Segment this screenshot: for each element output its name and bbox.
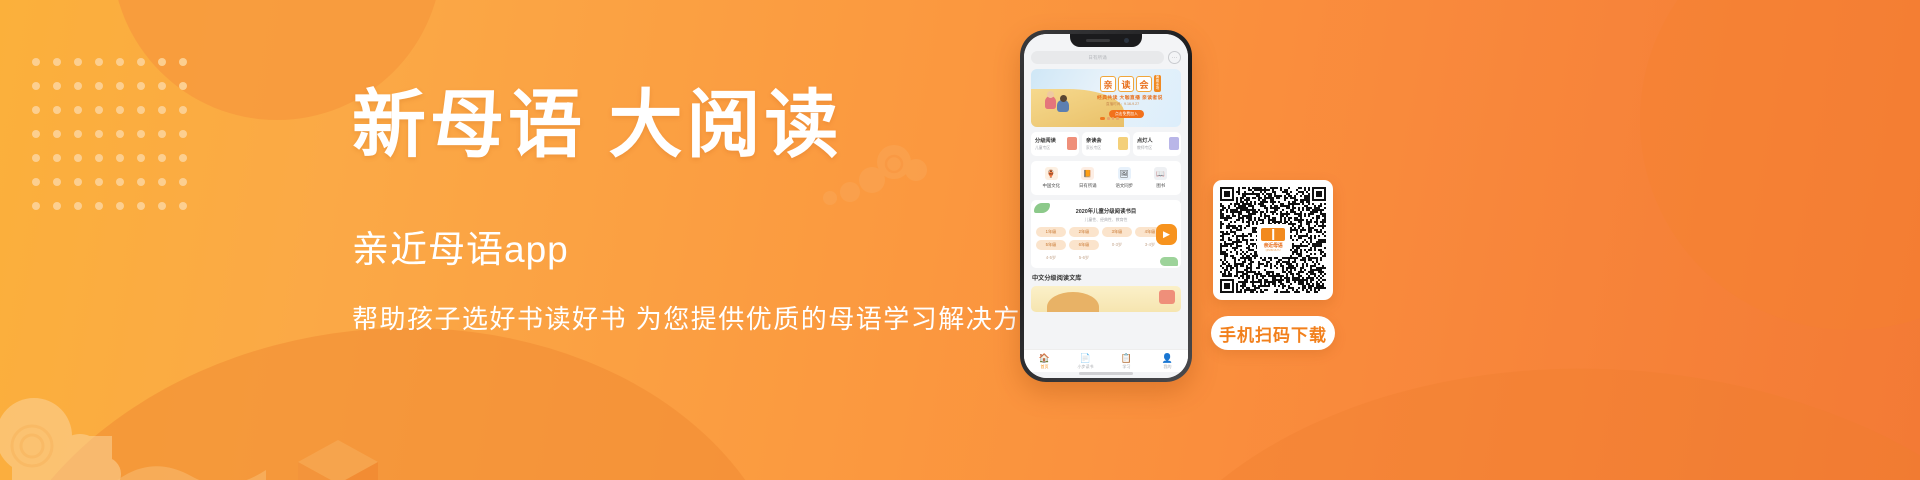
decor-wave-right	[1109, 336, 1920, 480]
quick-icon-语文同步[interactable]: 🖼语文同步	[1106, 167, 1143, 189]
zone-icon	[1067, 137, 1077, 150]
quick-icon-label: 语文同步	[1106, 183, 1143, 189]
checklist-icon: 📋	[1106, 354, 1147, 363]
hero-title-char: 会	[1136, 76, 1152, 92]
zone-cards: 分级阅读儿童专区亲读会家长专区点灯人教师专区	[1031, 132, 1181, 156]
search-input[interactable]: 日有所诵	[1031, 51, 1164, 64]
grade-button[interactable]: 1年级	[1036, 227, 1066, 237]
grade-button[interactable]: 6年级	[1069, 240, 1099, 250]
tab-我的[interactable]: 👤我的	[1147, 354, 1188, 370]
hero-title-char: 读	[1118, 76, 1134, 92]
app-search-bar[interactable]: 日有所诵 ···	[1031, 51, 1181, 64]
book-open-icon: 📙	[1081, 167, 1094, 180]
play-button[interactable]: ▶	[1156, 224, 1177, 245]
books-icon: 📖	[1154, 167, 1167, 180]
tab-学习[interactable]: 📋学习	[1106, 354, 1147, 370]
hero-dates: 直播时间：9.16-9.27	[1106, 102, 1139, 107]
bottom-tab-bar: 🏠首页📄小步读书📋学习👤我的	[1024, 349, 1188, 372]
vase-icon: 🏺	[1045, 167, 1058, 180]
booklist-card: 2020年儿童分级阅读书目 儿童性、经典性、教育性 1年级2年级3年级4年级5年…	[1031, 200, 1181, 268]
logo-name: 亲近母语	[1264, 242, 1283, 249]
phone-mockup: 日有所诵 ··· 亲读会暑期专场 经典共读 大咖直播 亲读者说 直播时间：9.1…	[1020, 30, 1192, 382]
tab-label: 我的	[1147, 364, 1188, 370]
quick-icon-label: 中国文化	[1033, 183, 1070, 189]
grade-button[interactable]: 5年级	[1036, 240, 1066, 250]
hero-banner[interactable]: 亲读会暑期专场 经典共读 大咖直播 亲读者说 直播时间：9.16-9.27 点击…	[1031, 69, 1181, 127]
grade-buttons: 1年级2年级3年级4年级5年级6年级0-3岁3-4岁4-5岁5-6岁	[1036, 227, 1176, 263]
logo-pinyin: QINJIN MUYU	[1266, 249, 1281, 252]
grade-button[interactable]: 2年级	[1069, 227, 1099, 237]
qr-block: 亲近母语 QINJIN MUYU 手机扫码下载	[1208, 180, 1338, 350]
hero-title-char: 亲	[1100, 76, 1116, 92]
phone-notch	[1070, 34, 1142, 47]
decor-circle-right	[1640, 0, 1920, 330]
home-icon: 🏠	[1024, 354, 1065, 363]
grade-button[interactable]: 3年级	[1102, 227, 1132, 237]
age-button[interactable]: 4-5岁	[1036, 253, 1066, 263]
decor-cloud-mid	[96, 420, 266, 480]
age-button[interactable]: 5-6岁	[1069, 253, 1099, 263]
download-button[interactable]: 手机扫码下载	[1211, 316, 1335, 350]
app-screen: 日有所诵 ··· 亲读会暑期专场 经典共读 大咖直播 亲读者说 直播时间：9.1…	[1024, 34, 1188, 378]
tab-label: 学习	[1106, 364, 1147, 370]
quick-icon-label: 图书	[1143, 183, 1180, 189]
decor-dot-grid	[32, 58, 200, 226]
booklist-subtitle: 儿童性、经典性、教育性	[1036, 217, 1176, 223]
tab-label: 小步读书	[1065, 364, 1106, 370]
banner-copy: 新母语 大阅读 亲近母语app 帮助孩子选好书读好书 为您提供优质的母语学习解决…	[352, 86, 1048, 336]
quick-icon-图书[interactable]: 📖图书	[1143, 167, 1180, 189]
brand-logo-icon: 亲近母语 QINJIN MUYU	[1257, 224, 1289, 256]
quick-icon-row: 🏺中国文化📙日有所诵🖼语文同步📖图书	[1031, 161, 1181, 195]
quick-icon-中国文化[interactable]: 🏺中国文化	[1033, 167, 1070, 189]
library-card[interactable]	[1031, 286, 1181, 312]
user-icon: 👤	[1147, 354, 1188, 363]
banner-headline: 新母语 大阅读	[352, 86, 1048, 167]
home-indicator	[1079, 372, 1133, 375]
tab-label: 首页	[1024, 364, 1065, 370]
promo-banner: 新母语 大阅读 亲近母语app 帮助孩子选好书读好书 为您提供优质的母语学习解决…	[0, 0, 1920, 480]
age-button[interactable]: 0-3岁	[1102, 240, 1132, 250]
hero-title: 亲读会暑期专场	[1100, 75, 1161, 92]
zone-card-2[interactable]: 亲读会家长专区	[1082, 132, 1130, 156]
hero-carousel-dots[interactable]	[1100, 117, 1119, 120]
note-icon: 📄	[1065, 354, 1106, 363]
quick-icon-label: 日有所诵	[1070, 183, 1107, 189]
booklist-title: 2020年儿童分级阅读书目	[1036, 207, 1176, 215]
tab-小步读书[interactable]: 📄小步读书	[1065, 354, 1106, 370]
tab-首页[interactable]: 🏠首页	[1024, 354, 1065, 370]
qr-card[interactable]: 亲近母语 QINJIN MUYU	[1213, 180, 1333, 300]
banner-subhead: 亲近母语app	[352, 219, 1048, 273]
zone-icon	[1118, 137, 1128, 150]
zone-icon	[1169, 137, 1179, 150]
more-icon[interactable]: ···	[1168, 51, 1181, 64]
quick-icon-日有所诵[interactable]: 📙日有所诵	[1070, 167, 1107, 189]
library-title: 中文分级阅读文库	[1032, 273, 1181, 282]
decor-cube	[298, 440, 378, 480]
hero-side-tag: 暑期专场	[1154, 75, 1161, 92]
hero-features: 经典共读 大咖直播 亲读者说	[1097, 94, 1163, 101]
frame-icon: 🖼	[1118, 167, 1131, 180]
zone-card-1[interactable]: 分级阅读儿童专区	[1031, 132, 1079, 156]
zone-card-3[interactable]: 点灯人教师专区	[1133, 132, 1181, 156]
banner-tagline: 帮助孩子选好书读好书 为您提供优质的母语学习解决方案	[352, 299, 1048, 336]
